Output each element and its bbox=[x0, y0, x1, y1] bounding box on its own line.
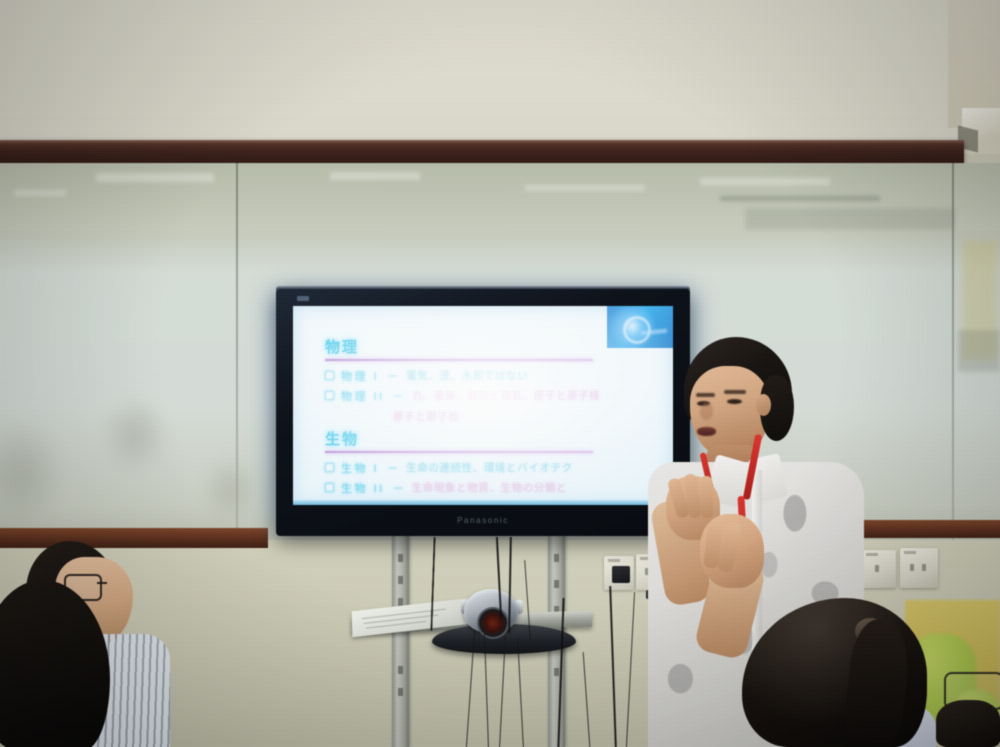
tv-power-led bbox=[297, 296, 309, 301]
section-bullets-physics: 物理 I － 電気、波、水和ではない 物理 II － 力、液体、波動と電気、原子… bbox=[325, 368, 635, 425]
student-far-right-hair bbox=[936, 700, 1000, 747]
bullet-description: 生命現象と物質、生物の分類と bbox=[412, 480, 567, 495]
bullet-row: 物理 II － 力、液体、波動と電気、原子と原子核 bbox=[325, 388, 635, 404]
glass-reflection-strip-1 bbox=[14, 190, 66, 196]
presenter-ear bbox=[756, 394, 771, 416]
screen-bottom-edge bbox=[293, 500, 673, 505]
checkbox-icon bbox=[325, 483, 334, 492]
wood-rail-bottom-right bbox=[845, 520, 1000, 538]
wall-outlet-far-1[interactable] bbox=[862, 550, 896, 588]
wood-rail-top-highlight bbox=[0, 140, 964, 144]
presenter-eye-right bbox=[727, 399, 742, 404]
glass-reflection-strip-2 bbox=[96, 173, 214, 182]
slide-screen: 物理 物理 I － 電気、波、水和ではない 物理 II － 力、液体、波動と電気… bbox=[293, 306, 673, 505]
glass-dark-reflection-2 bbox=[745, 208, 955, 230]
presenter-finger-3 bbox=[699, 476, 713, 518]
section-title-biology: 生物 bbox=[325, 428, 635, 449]
power-plug-1 bbox=[612, 566, 630, 583]
glass-dark-reflection-1 bbox=[720, 196, 880, 201]
bullet-description: 力、液体、波動と電気、原子と原子核 bbox=[412, 388, 601, 403]
checkbox-icon bbox=[325, 371, 334, 380]
section-rule-biology bbox=[325, 451, 593, 453]
bullet-row: 物理 I － 電気、波、水和ではない bbox=[325, 368, 635, 384]
glass-blur-reflection-1 bbox=[100, 395, 170, 475]
mount-rail-left bbox=[392, 536, 409, 747]
bullet-dash: － bbox=[387, 368, 398, 384]
checkbox-icon bbox=[325, 463, 334, 472]
presenter-brow-left bbox=[696, 393, 715, 397]
bullet-description: 生命の連続性、環境とバイオテク bbox=[406, 460, 573, 475]
slide-section-physics: 物理 物理 I － 電気、波、水和ではない 物理 II － 力、液体、波動と電気… bbox=[325, 336, 635, 429]
bullet-row: 生物 I － 生命の連続性、環境とバイオテク bbox=[325, 460, 635, 476]
glass-blur-reflection-3 bbox=[200, 455, 260, 527]
bullet-continuation-text: 原子と原子核 bbox=[393, 411, 460, 423]
bullet-dash: － bbox=[393, 480, 404, 496]
bullet-label: 物理 I bbox=[341, 368, 379, 384]
photo-scene: Panasonic 物理 物理 I － 電気、波、水和ではない bbox=[0, 0, 1000, 747]
glass-dark-reflection-3 bbox=[958, 330, 1000, 372]
slide-section-biology: 生物 生物 I － 生命の連続性、環境とバイオテク 生物 II － 生命現象と物… bbox=[325, 428, 635, 505]
section-rule-physics bbox=[325, 359, 593, 361]
slide-content: 物理 物理 I － 電気、波、水和ではない 物理 II － 力、液体、波動と電気… bbox=[293, 306, 673, 505]
bullet-row: 生物 II － 生命現象と物質、生物の分類と bbox=[325, 480, 635, 496]
wall-outlet-far-2[interactable] bbox=[900, 548, 938, 588]
glass-reflection-strip-5 bbox=[700, 178, 830, 185]
upper-wall bbox=[0, 0, 1000, 146]
bullet-label: 物理 II bbox=[341, 388, 385, 404]
bullet-label: 生物 I bbox=[341, 460, 379, 476]
presenter-nose bbox=[700, 403, 713, 420]
section-bullets-biology: 生物 I － 生命の連続性、環境とバイオテク 生物 II － 生命現象と物質、生… bbox=[325, 460, 635, 505]
bullet-description: 電気、波、水和ではない bbox=[406, 368, 528, 383]
bullet-dash: － bbox=[387, 460, 398, 476]
bullet-dash: － bbox=[393, 388, 404, 404]
tv-brand-label: Panasonic bbox=[276, 505, 690, 536]
presenter-mouth bbox=[697, 427, 716, 436]
bullet-label: 生物 II bbox=[341, 480, 385, 496]
checkbox-icon bbox=[325, 391, 334, 400]
wood-rail-bottom-left bbox=[0, 528, 268, 548]
eyeglasses-bridge bbox=[97, 582, 107, 584]
section-title-physics: 物理 bbox=[325, 336, 635, 357]
presenter-brow-right bbox=[724, 390, 746, 394]
bullet-continuation: 原子と原子核 bbox=[393, 407, 635, 425]
camera-lens bbox=[477, 607, 509, 639]
glass-reflection-strip-3 bbox=[330, 172, 420, 180]
glass-reflection-strip-4 bbox=[525, 185, 645, 191]
